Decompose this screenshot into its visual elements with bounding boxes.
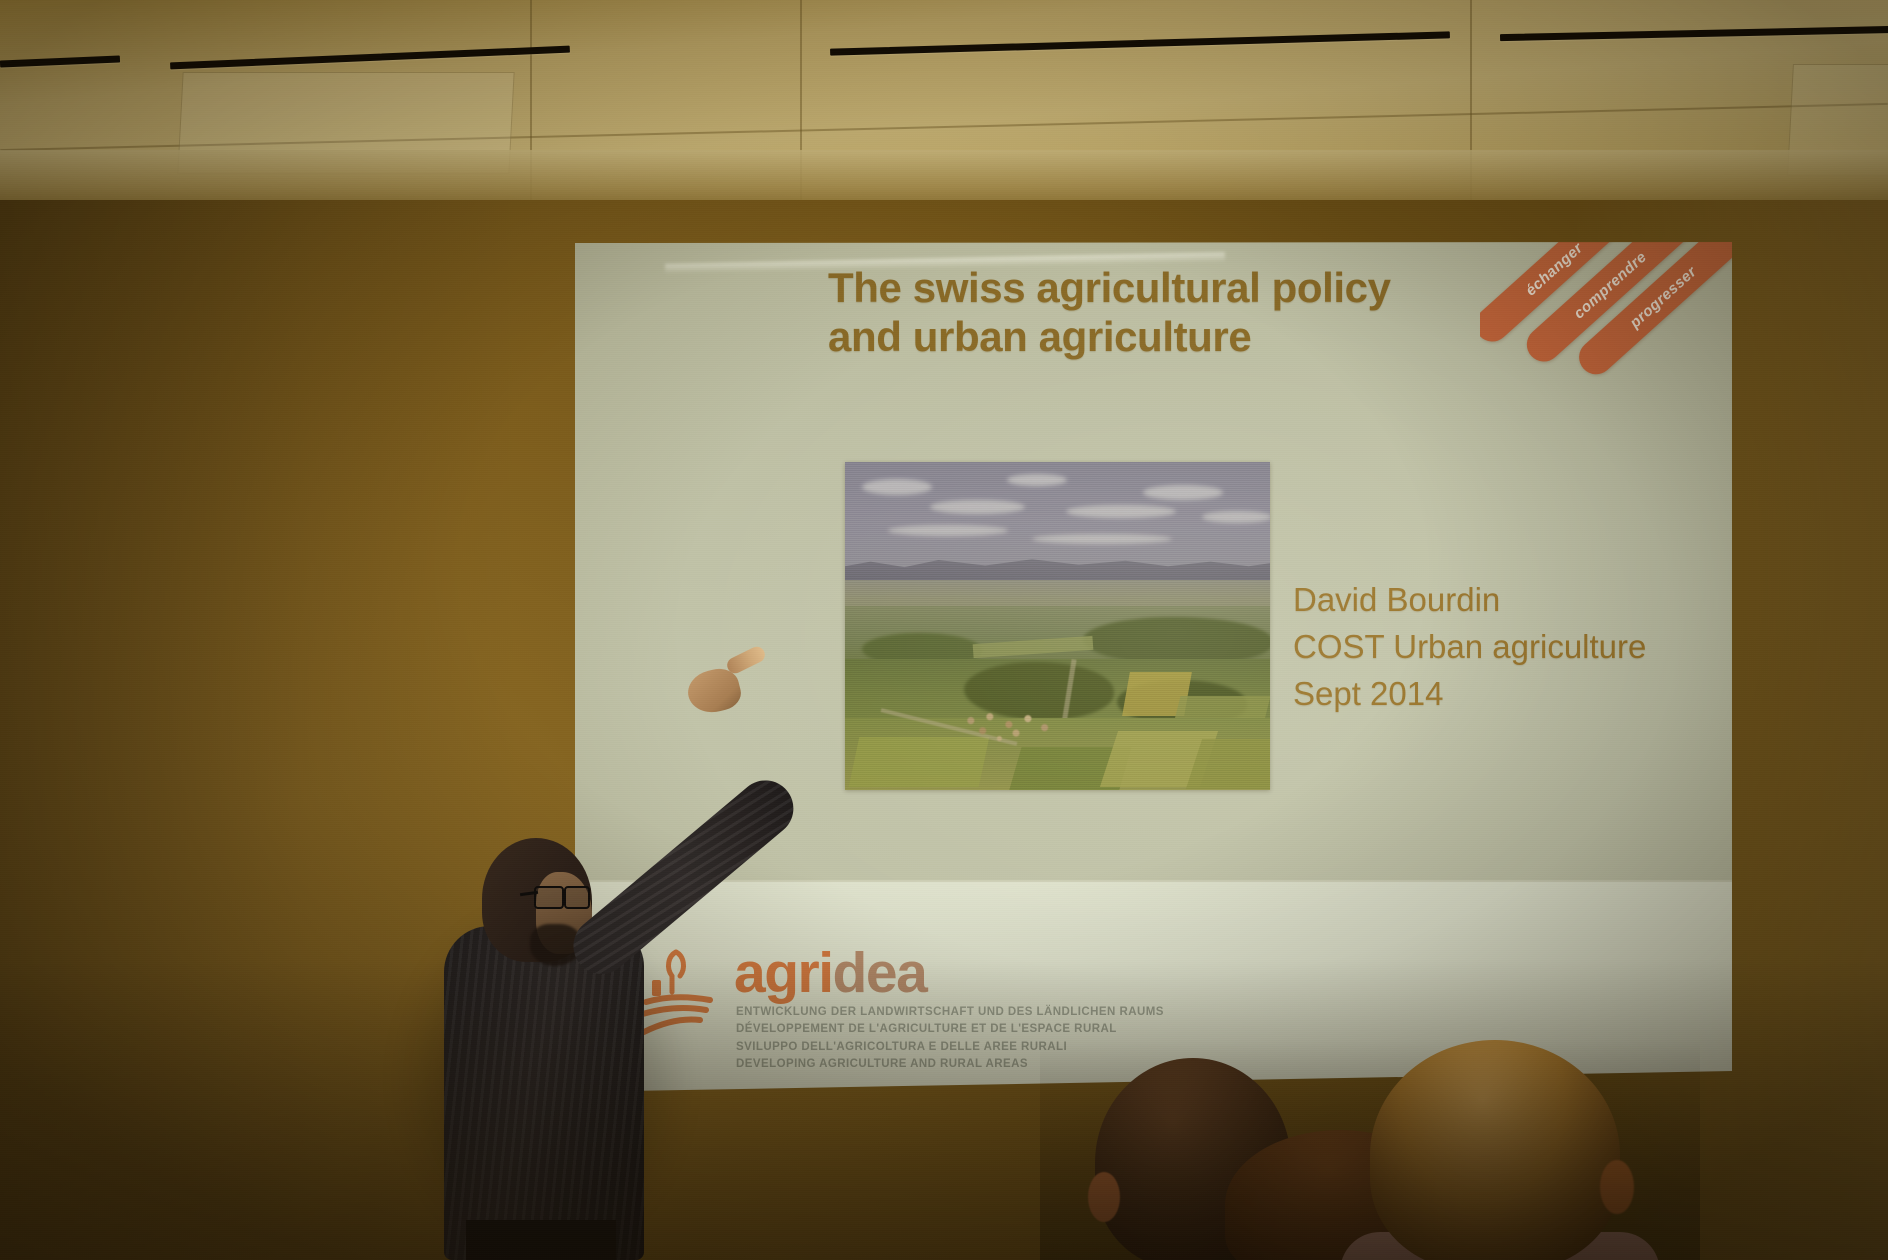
author-event: COST Urban agriculture	[1293, 624, 1693, 671]
slide-title-line-1: The swiss agricultural policy	[828, 264, 1518, 313]
photo-grain	[845, 462, 1270, 790]
slide-title-line-2: and urban agriculture	[828, 313, 1518, 362]
ceiling	[0, 0, 1888, 210]
photo-scene: The swiss agricultural policy and urban …	[0, 0, 1888, 1260]
glasses-icon	[534, 886, 596, 906]
aerial-landscape-photo	[845, 462, 1270, 790]
author-name: David Bourdin	[1293, 577, 1693, 624]
ceiling-vent	[830, 31, 1450, 55]
glasses-lens-left	[534, 886, 564, 909]
glasses-lens-right	[564, 886, 590, 909]
room-floor-shadow	[0, 960, 1888, 1260]
author-block: David Bourdin COST Urban agriculture Sep…	[1293, 577, 1693, 718]
ceiling-vent	[1500, 26, 1888, 41]
ceiling-vent	[0, 55, 120, 67]
slide-title: The swiss agricultural policy and urban …	[828, 264, 1518, 361]
author-date: Sept 2014	[1293, 671, 1693, 718]
ceiling-vent	[170, 46, 570, 70]
